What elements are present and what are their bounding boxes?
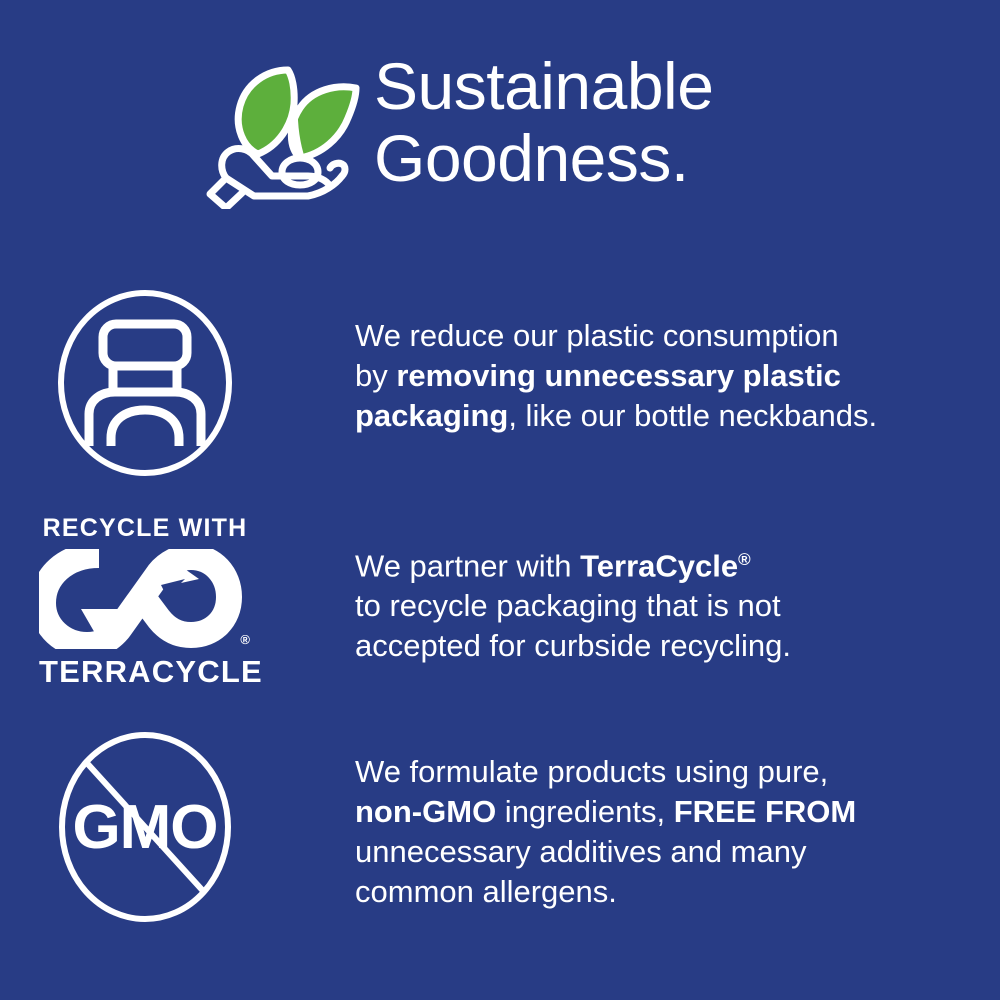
text-line: to recycle packaging that is not [355,586,1000,626]
feature-row-gmo: GMO We formulate products using pure, no… [0,730,1000,930]
registered-trademark-icon: ® [240,632,250,647]
terracycle-logo-icon: RECYCLE WITH ® TERRACYCLE [39,515,251,688]
feature-row-terracycle: RECYCLE WITH ® TERRACYCLE [0,515,1000,705]
text-line: We reduce our plastic consumption [355,316,1000,356]
terracycle-infinity-loop-icon: ® [39,549,251,649]
text-line: unnecessary additives and many [355,832,1000,872]
header-banner: Sustainable Goodness. [0,50,1000,220]
feature-icon-cell: GMO [0,730,360,925]
svg-text:GMO: GMO [72,793,217,862]
text-line: accepted for curbside recycling. [355,626,1000,666]
feature-row-plastic: We reduce our plastic consumption by rem… [0,288,1000,483]
text-line: packaging, like our bottle neckbands. [355,396,1000,436]
hand-holding-plant-icon [196,54,364,209]
plastic-bottle-in-circle-icon [55,288,235,478]
page-title: Sustainable Goodness. [374,50,713,194]
feature-text-terracycle: We partner with TerraCycle® to recycle p… [355,515,1000,666]
text-line: by removing unnecessary plastic [355,356,1000,396]
text-line: common allergens. [355,872,1000,912]
feature-icon-cell [0,288,360,478]
terracycle-top-label: RECYCLE WITH [39,515,251,542]
text-line: We partner with TerraCycle® [355,540,1000,586]
feature-text-gmo: We formulate products using pure, non-GM… [355,730,1000,912]
feature-icon-cell: RECYCLE WITH ® TERRACYCLE [0,515,360,688]
no-gmo-icon: GMO [55,730,235,925]
terracycle-bottom-label: TERRACYCLE [39,655,251,688]
feature-text-plastic: We reduce our plastic consumption by rem… [355,288,1000,436]
text-line: non-GMO ingredients, FREE FROM [355,792,1000,832]
text-line: We formulate products using pure, [355,752,1000,792]
